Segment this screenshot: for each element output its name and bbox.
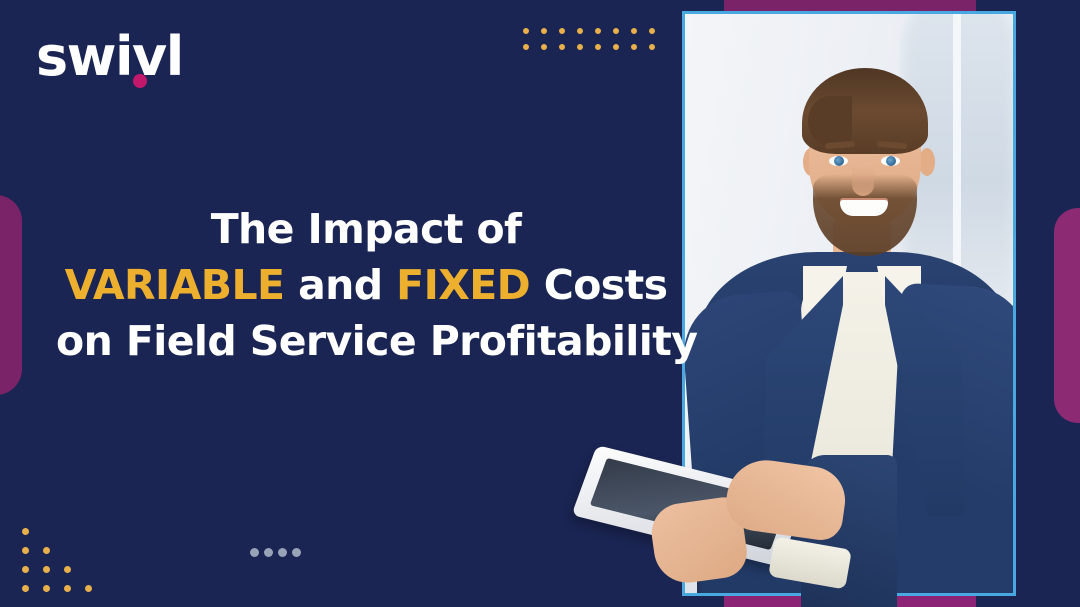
logo-dot-icon bbox=[133, 74, 147, 88]
headline-emphasis-variable: VARIABLE bbox=[65, 261, 285, 309]
headline-line-2: VARIABLE and FIXED Costs bbox=[56, 258, 676, 314]
headline-costs-word: Costs bbox=[530, 261, 667, 309]
dot bbox=[523, 28, 529, 34]
suit-button bbox=[264, 548, 273, 557]
figure-hair bbox=[802, 68, 928, 154]
figure-smile bbox=[840, 200, 888, 216]
swivl-logo[interactable]: swivl bbox=[36, 30, 183, 84]
figure-nose bbox=[852, 166, 874, 196]
dot-blank bbox=[85, 547, 92, 554]
figure-eye-left bbox=[829, 156, 848, 166]
dot bbox=[541, 28, 547, 34]
dot-blank bbox=[64, 547, 71, 554]
figure-iris-left bbox=[834, 156, 844, 166]
dot-blank bbox=[85, 566, 92, 573]
dot bbox=[559, 28, 565, 34]
dot bbox=[64, 585, 71, 592]
dot bbox=[613, 28, 619, 34]
dot-staircase-decoration-bottom-left bbox=[22, 528, 106, 604]
dot bbox=[631, 44, 637, 50]
dot bbox=[541, 44, 547, 50]
headline-conjunction: and bbox=[284, 261, 396, 309]
dot bbox=[22, 547, 29, 554]
dot bbox=[85, 585, 92, 592]
dot-grid-decoration-top bbox=[523, 28, 667, 60]
dot bbox=[22, 528, 29, 535]
dot bbox=[649, 28, 655, 34]
suit-button bbox=[292, 548, 301, 557]
dot bbox=[595, 28, 601, 34]
suit-button-details bbox=[250, 548, 301, 557]
dot bbox=[22, 566, 29, 573]
dot bbox=[631, 28, 637, 34]
dot bbox=[22, 585, 29, 592]
dot bbox=[595, 44, 601, 50]
dot bbox=[613, 44, 619, 50]
figure-iris-right bbox=[886, 156, 896, 166]
dot bbox=[64, 566, 71, 573]
logo-wordmark: swivl bbox=[36, 30, 183, 84]
marketing-banner: swivl The Impact of VARIABLE and FIXED C… bbox=[0, 0, 1080, 607]
dot-blank bbox=[85, 528, 92, 535]
dot bbox=[577, 28, 583, 34]
dot bbox=[559, 44, 565, 50]
dot bbox=[649, 44, 655, 50]
dot-blank bbox=[43, 528, 50, 535]
suit-button bbox=[278, 548, 287, 557]
dot bbox=[43, 566, 50, 573]
headline-emphasis-fixed: FIXED bbox=[396, 261, 530, 309]
headline-line-1: The Impact of bbox=[56, 202, 676, 258]
suit-button bbox=[250, 548, 259, 557]
figure-ear-right bbox=[919, 148, 935, 176]
dot bbox=[43, 547, 50, 554]
figure-eye-right bbox=[881, 156, 900, 166]
left-purple-pill-decoration bbox=[0, 195, 22, 395]
right-magenta-pill-decoration bbox=[1054, 208, 1080, 423]
tablet-and-hands bbox=[575, 455, 875, 607]
dot bbox=[577, 44, 583, 50]
page-title: The Impact of VARIABLE and FIXED Costs o… bbox=[56, 202, 676, 369]
dot bbox=[523, 44, 529, 50]
dot bbox=[43, 585, 50, 592]
dot-blank bbox=[64, 528, 71, 535]
headline-line-3: on Field Service Profitability bbox=[56, 314, 676, 370]
